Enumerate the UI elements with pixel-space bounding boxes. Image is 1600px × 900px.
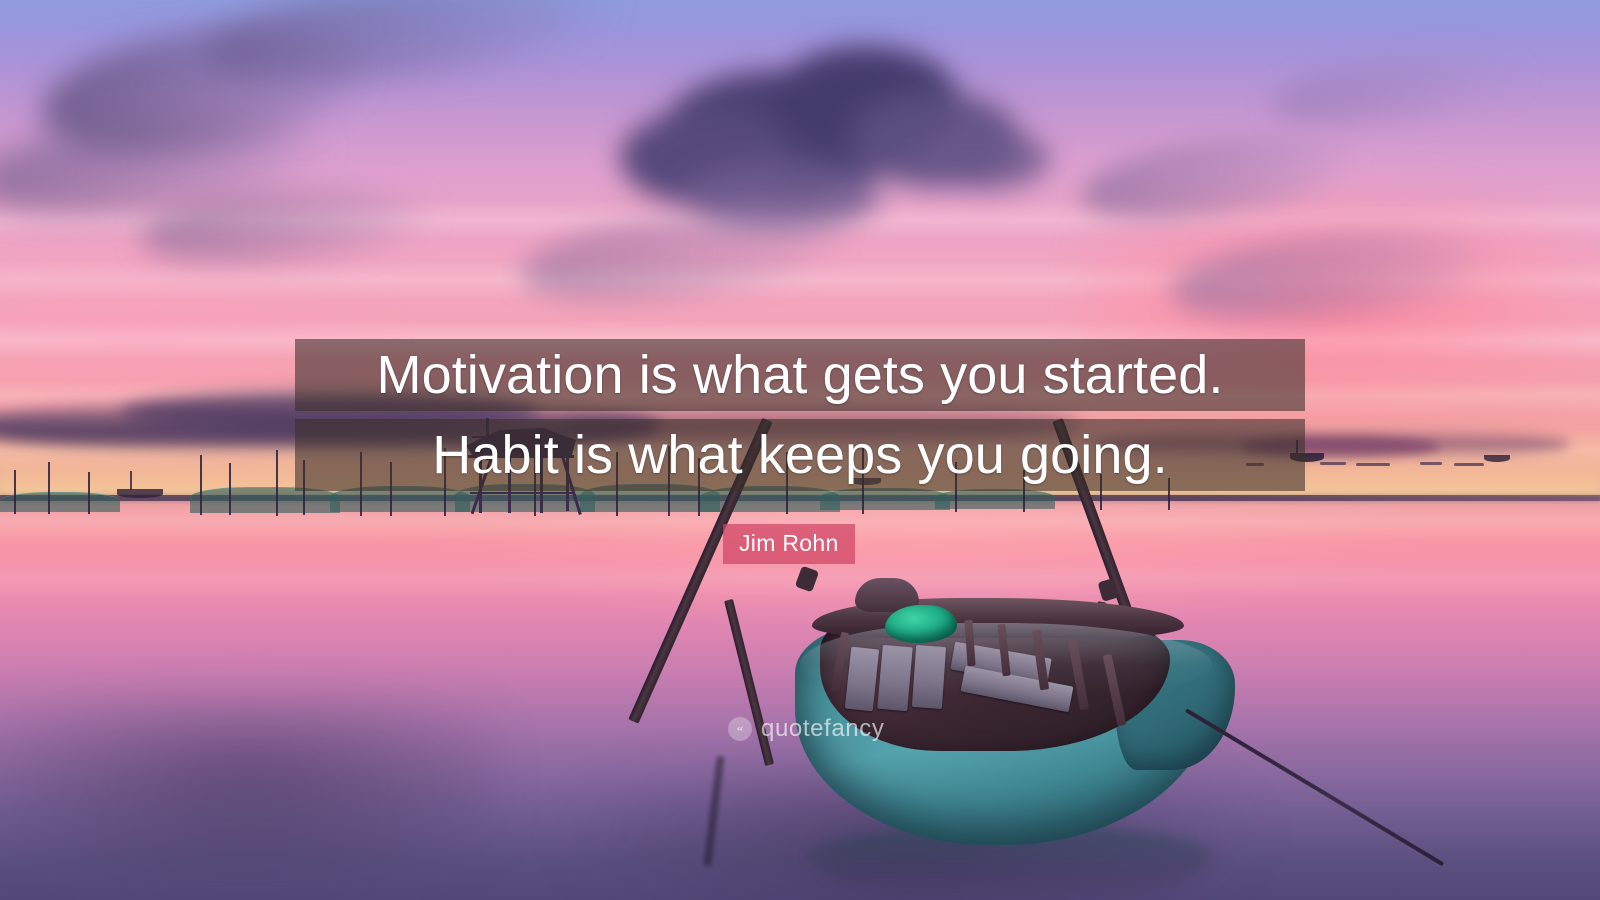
fishing-net [935, 489, 1055, 509]
water-shadow-left [0, 700, 500, 900]
distant-islet [1420, 462, 1442, 465]
fishing-net [820, 488, 950, 510]
quote-poster: Motivation is what gets you started. Hab… [0, 0, 1600, 900]
cloud-mass-center [620, 40, 1040, 230]
quote-mark-icon: “ [728, 717, 752, 741]
green-cloth-bundle [885, 605, 957, 643]
distant-islet [1320, 462, 1346, 465]
distant-boat [117, 489, 163, 498]
boat-plank [877, 645, 912, 711]
watermark[interactable]: “ quotefancy [728, 717, 884, 741]
boat-plank [912, 645, 946, 709]
pole-reflection [703, 756, 724, 866]
distant-boat-mast [130, 471, 132, 490]
watermark-brand: quotefancy [761, 717, 884, 741]
net-stake [48, 462, 50, 514]
fishing-net [0, 492, 120, 512]
distant-islet [1356, 463, 1390, 466]
author-badge: Jim Rohn [723, 524, 855, 564]
quote-block: Motivation is what gets you started. Hab… [295, 339, 1305, 491]
distant-islet [1454, 463, 1484, 466]
net-stake [88, 472, 90, 514]
net-stake [200, 455, 202, 515]
foreground-boat [700, 520, 1260, 900]
stilt-hut-brace [470, 492, 574, 494]
pole-lashing [795, 566, 819, 593]
net-stake [276, 450, 278, 516]
quote-line-2: Habit is what keeps you going. [295, 419, 1305, 491]
net-stake [14, 470, 16, 514]
quote-line-1: Motivation is what gets you started. [295, 339, 1305, 411]
net-stake [229, 463, 231, 515]
distant-boat [1484, 455, 1510, 462]
